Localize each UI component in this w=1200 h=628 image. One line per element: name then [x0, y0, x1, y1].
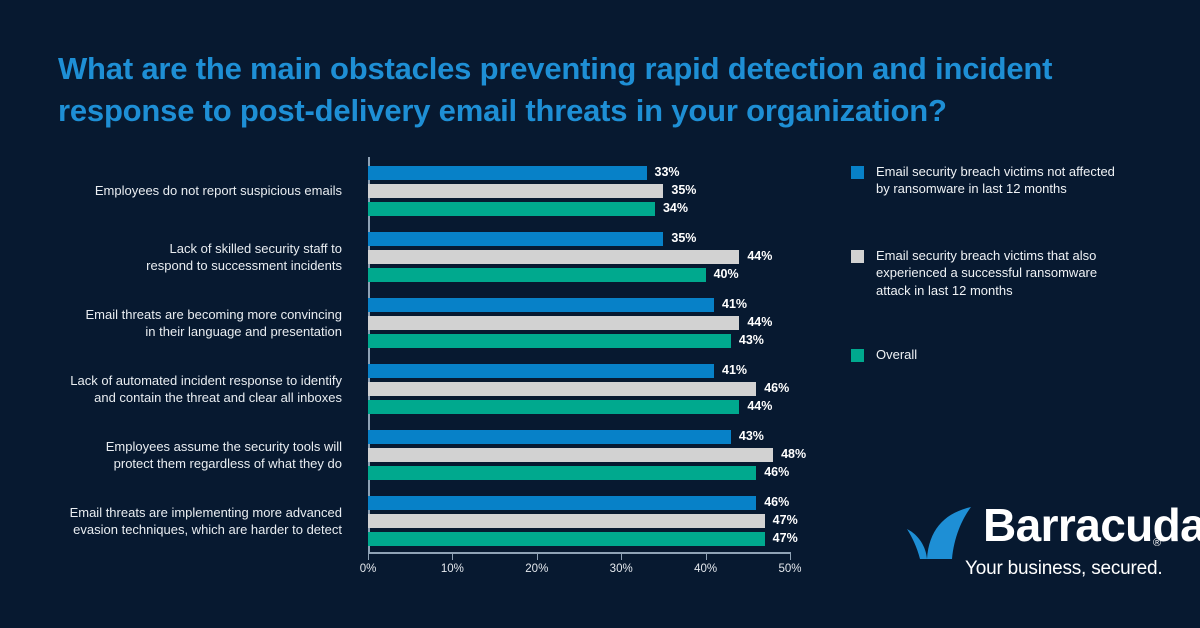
x-axis-tick-label: 50%: [778, 563, 801, 575]
bar[interactable]: [368, 202, 655, 216]
infographic-canvas: What are the main obstacles preventing r…: [0, 0, 1200, 628]
bar[interactable]: [368, 532, 765, 546]
category-label: Employees assume the security tools will…: [40, 438, 342, 472]
x-axis-tick: [706, 553, 707, 560]
bar-row: 44%: [368, 250, 790, 264]
bar[interactable]: [368, 298, 714, 312]
category-label: Email threats are implementing more adva…: [40, 504, 342, 538]
bar-row: 34%: [368, 202, 790, 216]
legend-label: Email security breach victims that also …: [876, 247, 1097, 299]
bar-group: 33%35%34%: [368, 166, 790, 216]
bar-group: 41%44%43%: [368, 298, 790, 348]
bar-value-label: 44%: [747, 399, 772, 413]
bar-row: 44%: [368, 400, 790, 414]
bar-value-label: 47%: [773, 513, 798, 527]
bar-value-label: 47%: [773, 531, 798, 545]
bar-value-label: 44%: [747, 315, 772, 329]
bar-row: 41%: [368, 364, 790, 378]
bar-group: 41%46%44%: [368, 364, 790, 414]
bar-value-label: 43%: [739, 429, 764, 443]
bar-row: 47%: [368, 532, 790, 546]
bar-value-label: 33%: [655, 165, 680, 179]
x-axis-tick: [621, 553, 622, 560]
bar-row: 47%: [368, 514, 790, 528]
bar[interactable]: [368, 268, 706, 282]
bar-row: 33%: [368, 166, 790, 180]
bar-row: 46%: [368, 382, 790, 396]
legend-label: Overall: [876, 346, 917, 363]
bar-row: 46%: [368, 496, 790, 510]
x-axis-line: [368, 552, 791, 554]
x-axis-tick-label: 0%: [360, 563, 377, 575]
legend-color-swatch: [851, 250, 864, 263]
legend-color-swatch: [851, 349, 864, 362]
bar-value-label: 35%: [671, 231, 696, 245]
bar[interactable]: [368, 448, 773, 462]
legend-color-swatch: [851, 166, 864, 179]
x-axis-tick-label: 10%: [441, 563, 464, 575]
bar-value-label: 46%: [764, 465, 789, 479]
category-label: Email threats are becoming more convinci…: [40, 306, 342, 340]
category-axis-labels: Employees do not report suspicious email…: [40, 157, 342, 553]
bar[interactable]: [368, 334, 731, 348]
bar-value-label: 46%: [764, 381, 789, 395]
bar-value-label: 46%: [764, 495, 789, 509]
x-axis-tick: [537, 553, 538, 560]
bar-value-label: 40%: [714, 267, 739, 281]
bar-row: 35%: [368, 232, 790, 246]
bar-row: 44%: [368, 316, 790, 330]
bar-row: 41%: [368, 298, 790, 312]
bar[interactable]: [368, 364, 714, 378]
chart-plot-area: 0%10%20%30%40%50%33%35%34%35%44%40%41%44…: [368, 157, 790, 553]
bar-row: 35%: [368, 184, 790, 198]
page-title: What are the main obstacles preventing r…: [58, 48, 1168, 132]
bar[interactable]: [368, 250, 739, 264]
bar-row: 40%: [368, 268, 790, 282]
bar-value-label: 44%: [747, 249, 772, 263]
x-axis-tick: [368, 553, 369, 560]
legend-label: Email security breach victims not affect…: [876, 163, 1115, 198]
bar[interactable]: [368, 382, 756, 396]
bar-row: 48%: [368, 448, 790, 462]
logo-wordmark: Barracuda: [983, 502, 1200, 548]
bar[interactable]: [368, 514, 765, 528]
bar-value-label: 41%: [722, 363, 747, 377]
legend-item[interactable]: Email security breach victims that also …: [851, 247, 1097, 299]
bar-group: 43%48%46%: [368, 430, 790, 480]
bar-value-label: 34%: [663, 201, 688, 215]
x-axis-tick: [452, 553, 453, 560]
category-label: Employees do not report suspicious email…: [40, 182, 342, 199]
bar-row: 43%: [368, 430, 790, 444]
bar[interactable]: [368, 232, 663, 246]
bar[interactable]: [368, 400, 739, 414]
bar-row: 46%: [368, 466, 790, 480]
bar[interactable]: [368, 166, 647, 180]
x-axis-tick-label: 30%: [610, 563, 633, 575]
x-axis-tick-label: 40%: [694, 563, 717, 575]
barracuda-logo: Barracuda ® Your business, secured.: [905, 503, 1170, 583]
barracuda-fin-icon: [905, 507, 979, 561]
logo-tagline: Your business, secured.: [965, 558, 1163, 580]
legend-item[interactable]: Email security breach victims not affect…: [851, 163, 1115, 198]
bar[interactable]: [368, 316, 739, 330]
bar-row: 43%: [368, 334, 790, 348]
legend-item[interactable]: Overall: [851, 346, 917, 363]
bar[interactable]: [368, 184, 663, 198]
bar-value-label: 41%: [722, 297, 747, 311]
category-label: Lack of automated incident response to i…: [40, 372, 342, 406]
category-label: Lack of skilled security staff to respon…: [40, 240, 342, 274]
bar[interactable]: [368, 430, 731, 444]
bar[interactable]: [368, 496, 756, 510]
x-axis-tick: [790, 553, 791, 560]
bar-group: 35%44%40%: [368, 232, 790, 282]
bar-value-label: 35%: [671, 183, 696, 197]
x-axis-tick-label: 20%: [525, 563, 548, 575]
bar-value-label: 48%: [781, 447, 806, 461]
bar-group: 46%47%47%: [368, 496, 790, 546]
y-axis-line: [368, 157, 370, 553]
registered-trademark-icon: ®: [1153, 537, 1161, 549]
bar[interactable]: [368, 466, 756, 480]
bar-value-label: 43%: [739, 333, 764, 347]
